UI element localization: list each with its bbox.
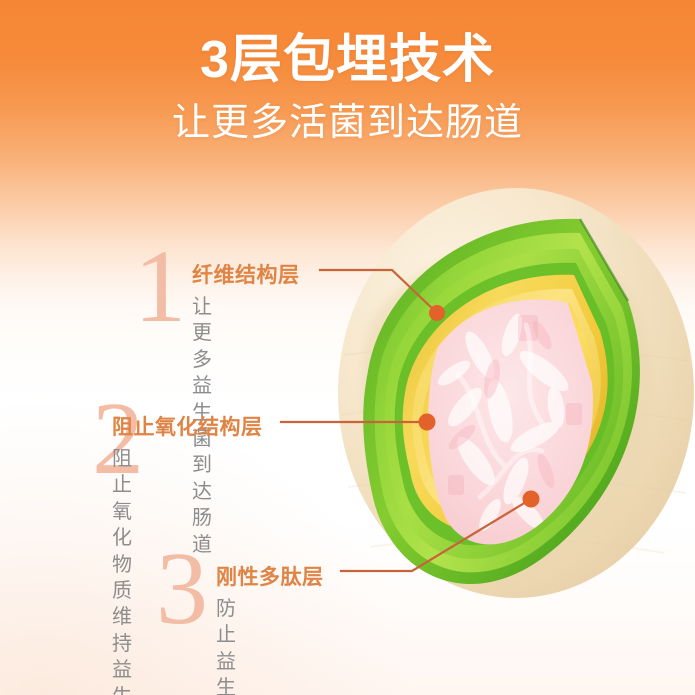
callout-3-body: 防止益生菌 被挤压而失活 [216,596,237,695]
callout-1-numeral: 1 [134,242,186,331]
callout-2-body: 阻止氧化物质 维持益生菌活性 [112,446,133,695]
page-subtitle: 让更多活菌到达肠道 [0,104,695,142]
callout-1-heading: 纤维结构层 [192,259,300,289]
callout-3-numeral: 3 [156,544,208,633]
page-title: 3层包埋技术 [0,34,695,86]
callout-3-heading: 刚性多肽层 [216,561,324,591]
poster-canvas: 3层包埋技术 让更多活菌到达肠道 [0,0,695,695]
callout-2-heading: 阻止氧化结构层 [112,411,263,441]
capsule-cutaway-illustration [330,175,695,615]
